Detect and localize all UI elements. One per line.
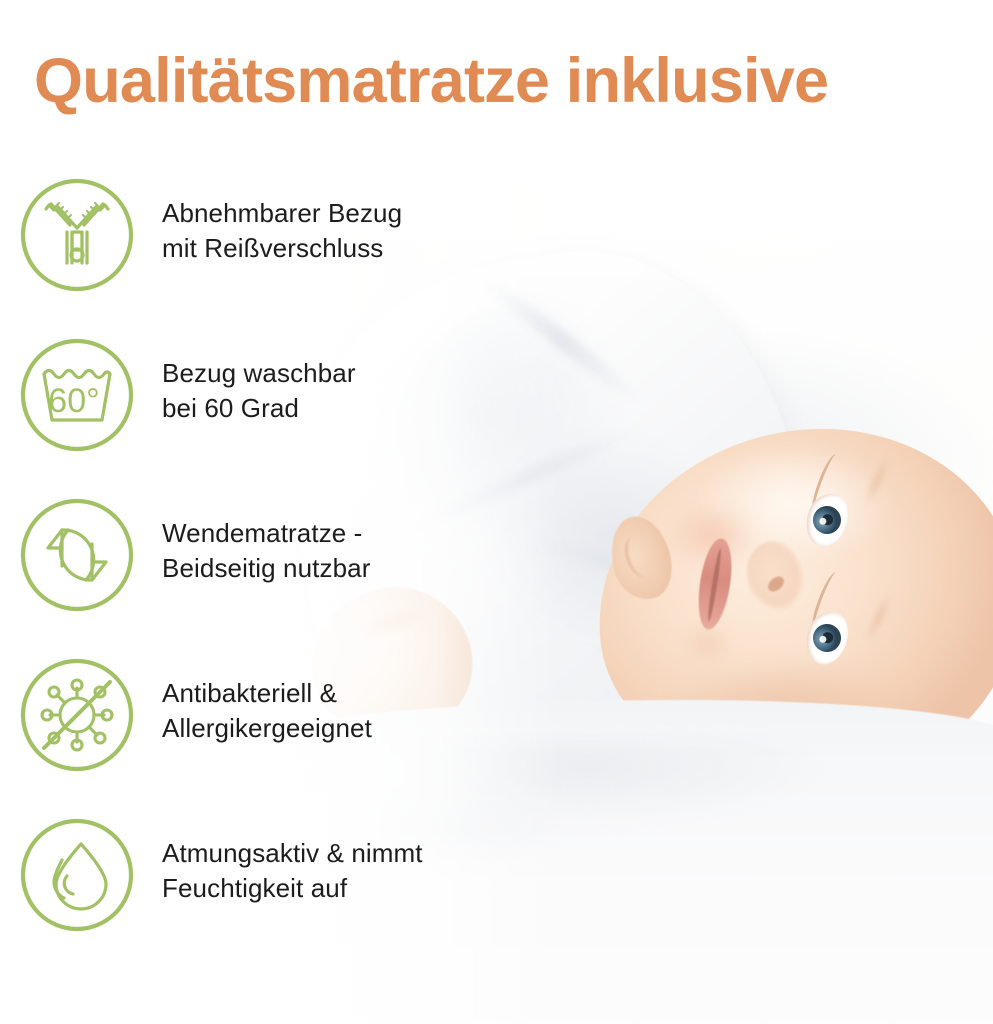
product-feature-poster: Qualitätsmatratze inklusive (0, 0, 993, 1024)
wash-60-degrees-icon: 60° (18, 336, 136, 454)
feature-list: Abnehmbarer Bezug mit Reißverschluss 60°… (0, 170, 560, 970)
feature-item-reversible-mattress: Wendematratze - Beidseitig nutzbar (0, 490, 560, 650)
antibacterial-crossed-out-icon (18, 656, 136, 774)
feature-item-breathable: Atmungsaktiv & nimmt Feuchtigkeit auf (0, 810, 560, 970)
feature-label: Antibakteriell & Allergikergeeignet (162, 676, 372, 747)
feature-label: Atmungsaktiv & nimmt Feuchtigkeit auf (162, 836, 423, 907)
poster-content: Qualitätsmatratze inklusive (0, 0, 993, 1024)
water-droplet-icon (18, 816, 136, 934)
wash-temperature-label: 60° (48, 382, 99, 420)
zipper-icon (18, 176, 136, 294)
feature-label: Abnehmbarer Bezug mit Reißverschluss (162, 196, 402, 267)
feature-item-antibacterial: Antibakteriell & Allergikergeeignet (0, 650, 560, 810)
feature-label: Wendematratze - Beidseitig nutzbar (162, 516, 370, 587)
feature-label: Bezug waschbar bei 60 Grad (162, 356, 356, 427)
reversible-arrows-icon (18, 496, 136, 614)
page-title: Qualitätsmatratze inklusive (34, 48, 828, 114)
feature-item-removable-cover: Abnehmbarer Bezug mit Reißverschluss (0, 170, 560, 330)
feature-item-washable-60: 60° Bezug waschbar bei 60 Grad (0, 330, 560, 490)
